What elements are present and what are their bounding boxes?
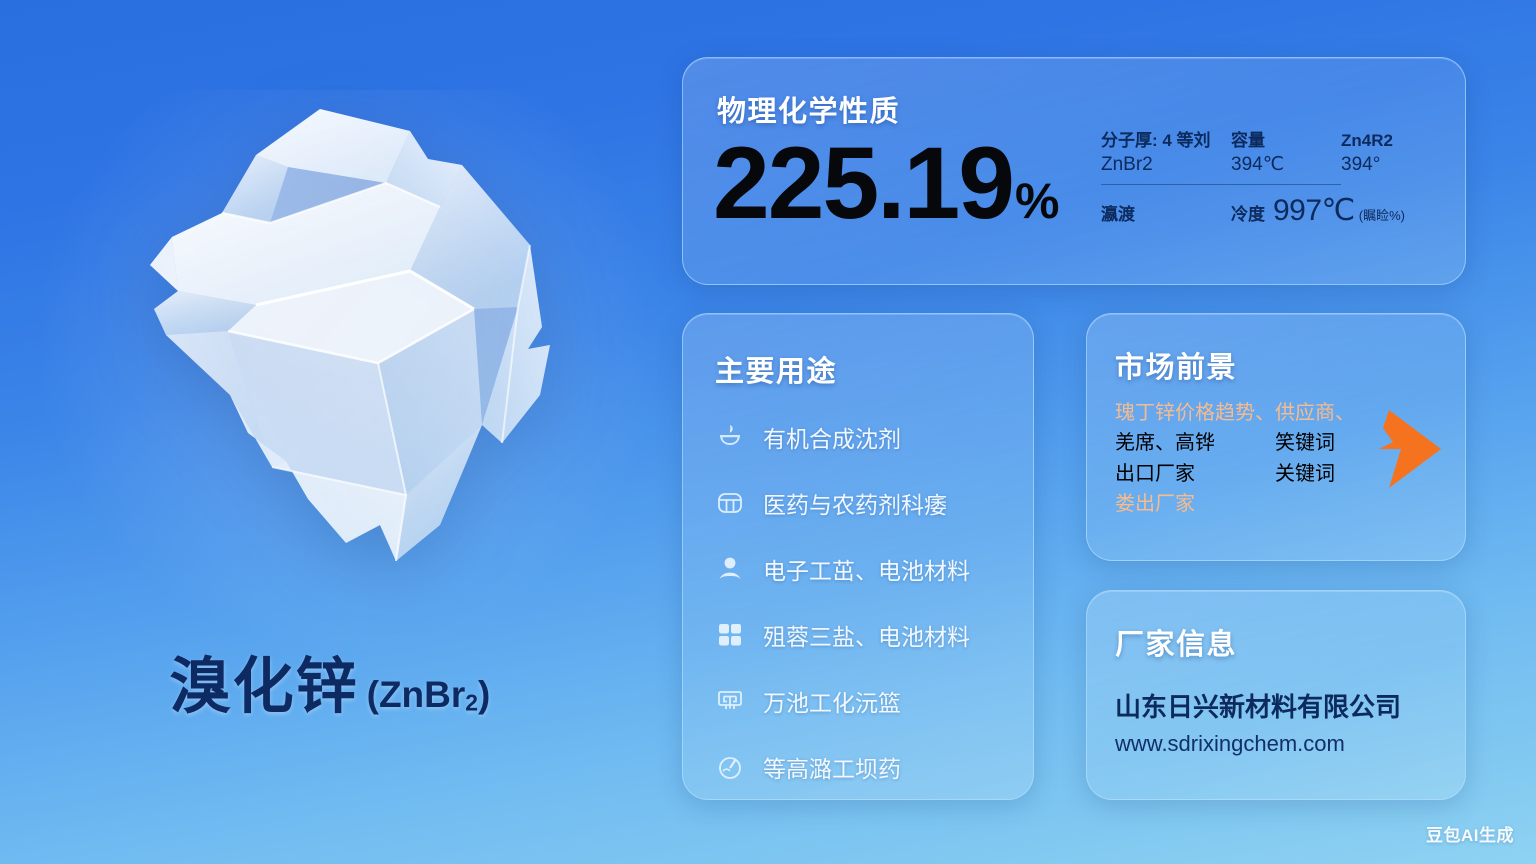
market-line-2-right: 笑键词 (1275, 428, 1335, 458)
flask-icon (713, 420, 747, 454)
spec-row-bottom: 瀛渡 冷度 997℃ (瞩睑%) (1101, 193, 1441, 228)
manufacturer-website[interactable]: www.sdrixingchem.com (1115, 731, 1345, 757)
market-card-title: 市场前景 (1115, 344, 1237, 386)
market-line-3-left: 出口厂家 (1115, 459, 1275, 489)
spec-row-top: 分子厚: 4 等刘 ZnBr2 容量 394℃ Zn4R2 394° (1101, 130, 1441, 178)
use-item-label: 万池工化沅篮 (763, 684, 901, 718)
market-line-3-right: 关键词 (1275, 459, 1335, 489)
market-line-3: 出口厂家 关键词 (1115, 459, 1395, 489)
market-line-2: 羌席、高铧 笑键词 (1115, 428, 1395, 458)
purity-unit: % (1015, 176, 1059, 226)
market-keywords: 瑰丁锌价格趋势、供应商、 羌席、高铧 笑键词 出口厂家 关键词 娄出厂家 (1115, 398, 1395, 520)
arrow-right-icon[interactable] (1379, 406, 1449, 492)
use-item-oil-drilling[interactable]: 万池工化沅篮 (713, 668, 1017, 734)
spec-cell-extra: Zn4R2 394° (1341, 130, 1441, 178)
ai-watermark: 豆包AI生成 (1426, 821, 1514, 846)
use-item-label: 医药与农药剂科痿 (763, 486, 947, 520)
crystal-stage (110, 95, 580, 605)
poster-root: 溴化锌(ZnBr2) 物理化学性质 225.19 % 分子厚: 4 等刘 ZnB… (0, 0, 1536, 864)
main-uses-card: 主要用途 有机合成沈剂 (682, 313, 1034, 800)
spec-value-temperature: 997℃ (1273, 193, 1355, 228)
physical-chemical-properties-card: 物理化学性质 225.19 % 分子厚: 4 等刘 ZnBr2 容量 394℃ (682, 57, 1466, 285)
use-item-high-density-fluid[interactable]: 等高潞工坝药 (713, 734, 1017, 800)
manufacturer-info-card: 厂家信息 山东日兴新材料有限公司 www.sdrixingchem.com (1086, 590, 1466, 800)
medicine-box-icon (713, 486, 747, 520)
market-line-2-left: 羌席、高铧 (1115, 428, 1275, 458)
gauge-icon (713, 750, 747, 784)
spec-divider (1101, 184, 1341, 185)
grid-icon (713, 618, 747, 652)
use-item-pharma-pesticide[interactable]: 医药与农药剂科痿 (713, 470, 1017, 536)
product-showcase-pane: 溴化锌(ZnBr2) (0, 0, 660, 864)
market-line-1: 瑰丁锌价格趋势、供应商、 (1115, 398, 1395, 428)
spec-cell-molecular-formula: 分子厚: 4 等刘 ZnBr2 (1101, 130, 1231, 178)
product-formula: (ZnBr2) (367, 674, 491, 715)
uses-card-title: 主要用途 (715, 348, 837, 390)
use-item-fire-retardant[interactable]: 殂蓉三盐、电池材料 (713, 602, 1017, 668)
purity-metric: 225.19 % (713, 132, 1059, 234)
use-item-label: 电子工茁、电池材料 (763, 552, 970, 586)
spec-cell-capacity: 容量 394℃ (1231, 130, 1341, 178)
uses-list: 有机合成沈剂 医药与农药剂科痿 (713, 404, 1017, 800)
use-item-electronics-battery[interactable]: 电子工茁、电池材料 (713, 536, 1017, 602)
spec-table: 分子厚: 4 等刘 ZnBr2 容量 394℃ Zn4R2 394° 瀛渡 (1101, 130, 1441, 228)
manufacturer-name: 山东日兴新材料有限公司 (1115, 687, 1401, 724)
use-item-organic-synthesis[interactable]: 有机合成沈剂 (713, 404, 1017, 470)
person-icon (713, 552, 747, 586)
use-item-label: 有机合成沈剂 (763, 420, 901, 454)
use-item-label: 殂蓉三盐、电池材料 (763, 618, 970, 652)
panel-icon (713, 684, 747, 718)
properties-card-title: 物理化学性质 (717, 88, 900, 130)
use-item-label: 等高潞工坝药 (763, 750, 901, 784)
info-cards-pane: 物理化学性质 225.19 % 分子厚: 4 等刘 ZnBr2 容量 394℃ (678, 0, 1536, 864)
crystal-illustration (110, 95, 580, 605)
market-line-4: 娄出厂家 (1115, 489, 1395, 519)
product-title-cn: 溴化锌 (170, 652, 359, 720)
spec-label-density: 瀛渡 (1101, 200, 1231, 225)
spec-label-temperature: 冷度 (1231, 200, 1265, 225)
maker-card-title: 厂家信息 (1115, 621, 1237, 663)
market-outlook-card: 市场前景 瑰丁锌价格趋势、供应商、 羌席、高铧 笑键词 出口厂家 关键词 娄出厂… (1086, 313, 1466, 561)
spec-note: (瞩睑%) (1359, 205, 1405, 224)
purity-value: 225.19 (713, 132, 1013, 234)
product-title: 溴化锌(ZnBr2) (0, 636, 660, 725)
